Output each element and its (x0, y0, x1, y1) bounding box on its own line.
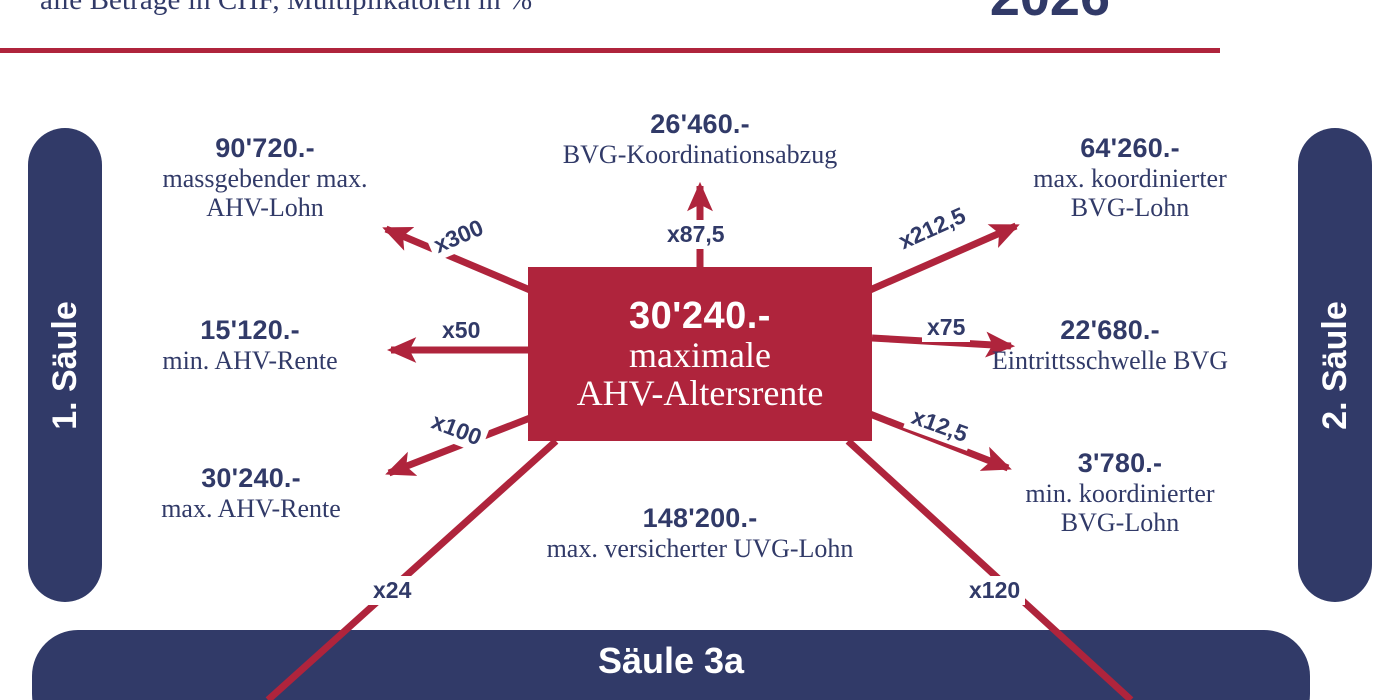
infographic-root: alle Beträge in CHF, Multiplikatoren in … (0, 0, 1400, 700)
multiplier-x75: x75 (922, 313, 970, 342)
node-min-koordinierter-bvg-lohn: 3'780.- min. koordinierter BVG-Lohn (975, 448, 1265, 537)
node-desc: min. AHV-Rente (120, 346, 380, 375)
multiplier-x24: x24 (368, 576, 416, 605)
node-desc-line2: BVG-Lohn (975, 508, 1265, 537)
multiplier-x12-5: x12,5 (903, 400, 976, 450)
node-amount: 90'720.- (110, 133, 420, 164)
node-amount: 64'260.- (975, 133, 1285, 164)
pillar-second-saeule-label: 2. Säule (1316, 301, 1355, 430)
node-amount: 26'460.- (497, 109, 903, 140)
node-max-versicherter-uvg-lohn: 148'200.- max. versicherter UVG-Lohn (480, 503, 920, 563)
center-node-amount: 30'240.- (629, 296, 771, 336)
node-amount: 22'680.- (955, 315, 1265, 346)
center-node-desc-line1: maximale (629, 336, 771, 374)
multiplier-x120: x120 (964, 576, 1025, 605)
node-desc: Eintrittsschwelle BVG (955, 346, 1265, 375)
multiplier-x87-5: x87,5 (662, 220, 730, 249)
node-desc-line1: min. koordinierter (975, 479, 1265, 508)
node-min-ahv-rente: 15'120.- min. AHV-Rente (120, 315, 380, 375)
header-year: 2026 (990, 0, 1110, 28)
node-desc-line2: AHV-Lohn (110, 193, 420, 222)
node-desc-line2: BVG-Lohn (975, 193, 1285, 222)
pillar-saeule-3a-label: Säule 3a (32, 630, 1310, 692)
node-desc: BVG-Koordinationsabzug (497, 140, 903, 169)
pillar-second-saeule: 2. Säule (1298, 128, 1372, 602)
center-node-desc-line2: AHV-Altersrente (577, 374, 824, 412)
header-divider (0, 48, 1220, 53)
pillar-first-saeule-label: 1. Säule (46, 301, 85, 430)
node-amount: 15'120.- (120, 315, 380, 346)
node-desc-line1: massgebender max. (110, 164, 420, 193)
node-amount: 3'780.- (975, 448, 1265, 479)
node-max-koordinierter-bvg-lohn: 64'260.- max. koordinierter BVG-Lohn (975, 133, 1285, 222)
center-node-max-ahv-altersrente: 30'240.- maximale AHV-Altersrente (528, 267, 872, 441)
node-desc: max. AHV-Rente (120, 494, 382, 523)
multiplier-x300: x300 (425, 211, 493, 262)
node-amount: 30'240.- (120, 463, 382, 494)
multiplier-x212-5: x212,5 (890, 199, 975, 258)
node-desc: max. versicherter UVG-Lohn (480, 534, 920, 563)
node-bvg-koordinationsabzug: 26'460.- BVG-Koordinationsabzug (497, 109, 903, 169)
node-amount: 148'200.- (480, 503, 920, 534)
multiplier-x100: x100 (423, 405, 491, 454)
node-desc-line1: max. koordinierter (975, 164, 1285, 193)
header-note: alle Beträge in CHF, Multiplikatoren in … (40, 0, 532, 17)
multiplier-x50: x50 (437, 316, 485, 345)
node-max-ahv-rente: 30'240.- max. AHV-Rente (120, 463, 382, 523)
pillar-first-saeule: 1. Säule (28, 128, 102, 602)
node-massgebender-max-ahv-lohn: 90'720.- massgebender max. AHV-Lohn (110, 133, 420, 222)
node-eintrittsschwelle-bvg: 22'680.- Eintrittsschwelle BVG (955, 315, 1265, 375)
